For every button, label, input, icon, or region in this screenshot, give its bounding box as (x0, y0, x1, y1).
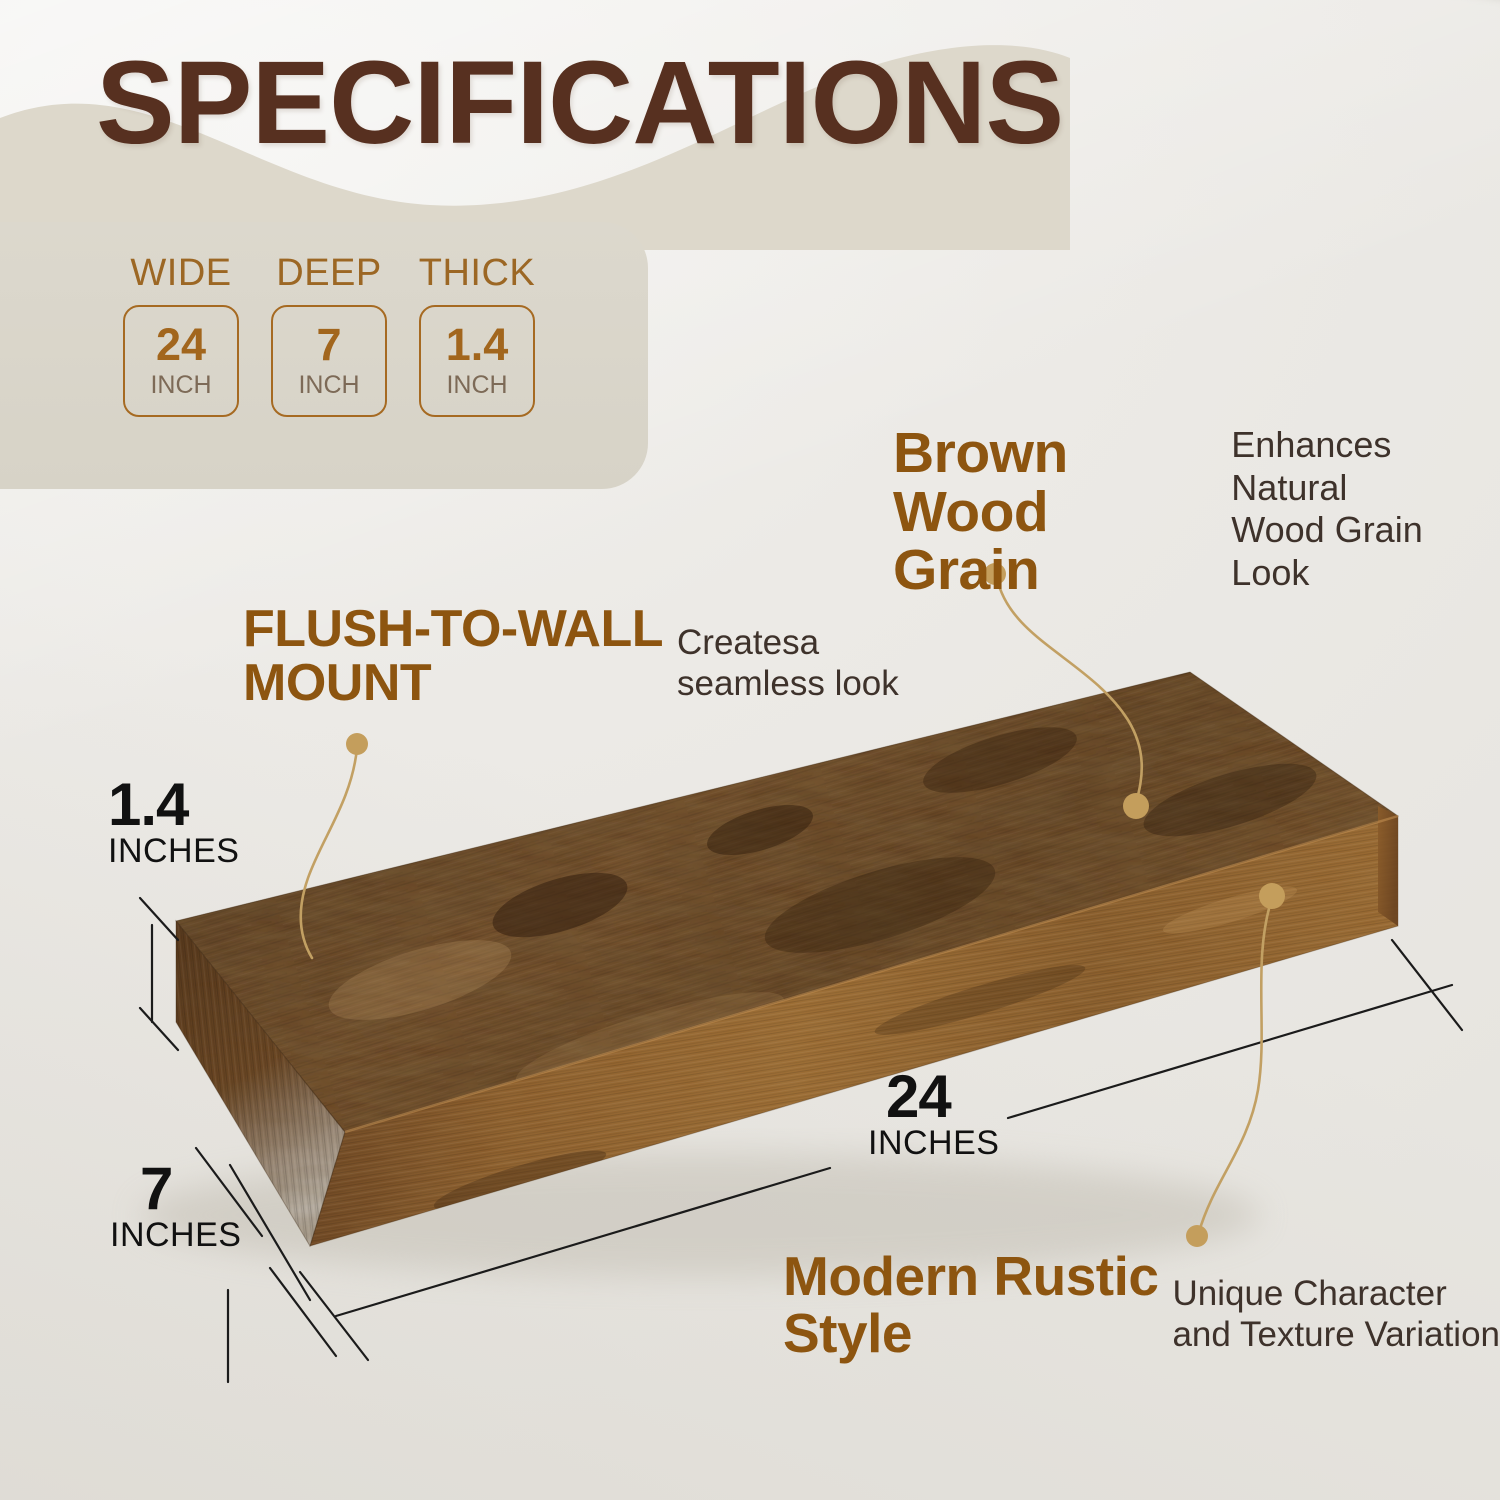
dimension-label-thickness: 1.4 INCHES (108, 776, 239, 870)
dimension-label-width: 24 INCHES (886, 1068, 999, 1162)
dimension-value-depth: 7 (140, 1160, 241, 1217)
callout-brown-heading-line2: Grain (893, 541, 1217, 600)
callout-rustic-sub-line1: Unique Character (1172, 1273, 1500, 1314)
callout-flush-sub-line1: Createsa (677, 622, 899, 663)
infographic-canvas: SPECIFICATIONS WIDE 24 INCH DEEP 7 INCH … (0, 0, 1500, 1500)
callout-brown-sub-line2: Wood Grain Look (1231, 509, 1500, 594)
callout-rustic-sub-line2: and Texture Variation (1172, 1314, 1500, 1355)
callout-flush-heading-line1: FLUSH-TO-WALL (243, 603, 663, 657)
callout-rustic-heading-line2: Style (783, 1305, 1158, 1362)
dimension-value-width: 24 (886, 1068, 999, 1125)
callout-rustic-heading-line1: Modern Rustic (783, 1248, 1158, 1305)
callout-brown-sub-line1: Enhances Natural (1231, 424, 1500, 509)
dimension-unit-thickness: INCHES (108, 833, 239, 870)
callout-flush-to-wall-mount: FLUSH-TO-WALL MOUNT Createsa seamless lo… (243, 603, 899, 710)
callout-brown-wood-grain: Brown Wood Grain Enhances Natural Wood G… (893, 424, 1500, 600)
dimension-label-depth: 7 INCHES (140, 1160, 241, 1254)
dimension-unit-depth: INCHES (110, 1217, 241, 1254)
callout-modern-rustic-style: Modern Rustic Style Unique Character and… (783, 1248, 1500, 1361)
dimension-value-thickness: 1.4 (108, 776, 239, 833)
callout-brown-heading-line1: Brown Wood (893, 424, 1217, 541)
dimension-unit-width: INCHES (868, 1125, 999, 1162)
shelf-right-end-face (1378, 806, 1398, 926)
callout-flush-sub-line2: seamless look (677, 663, 899, 704)
callout-flush-heading-line2: MOUNT (243, 657, 663, 711)
